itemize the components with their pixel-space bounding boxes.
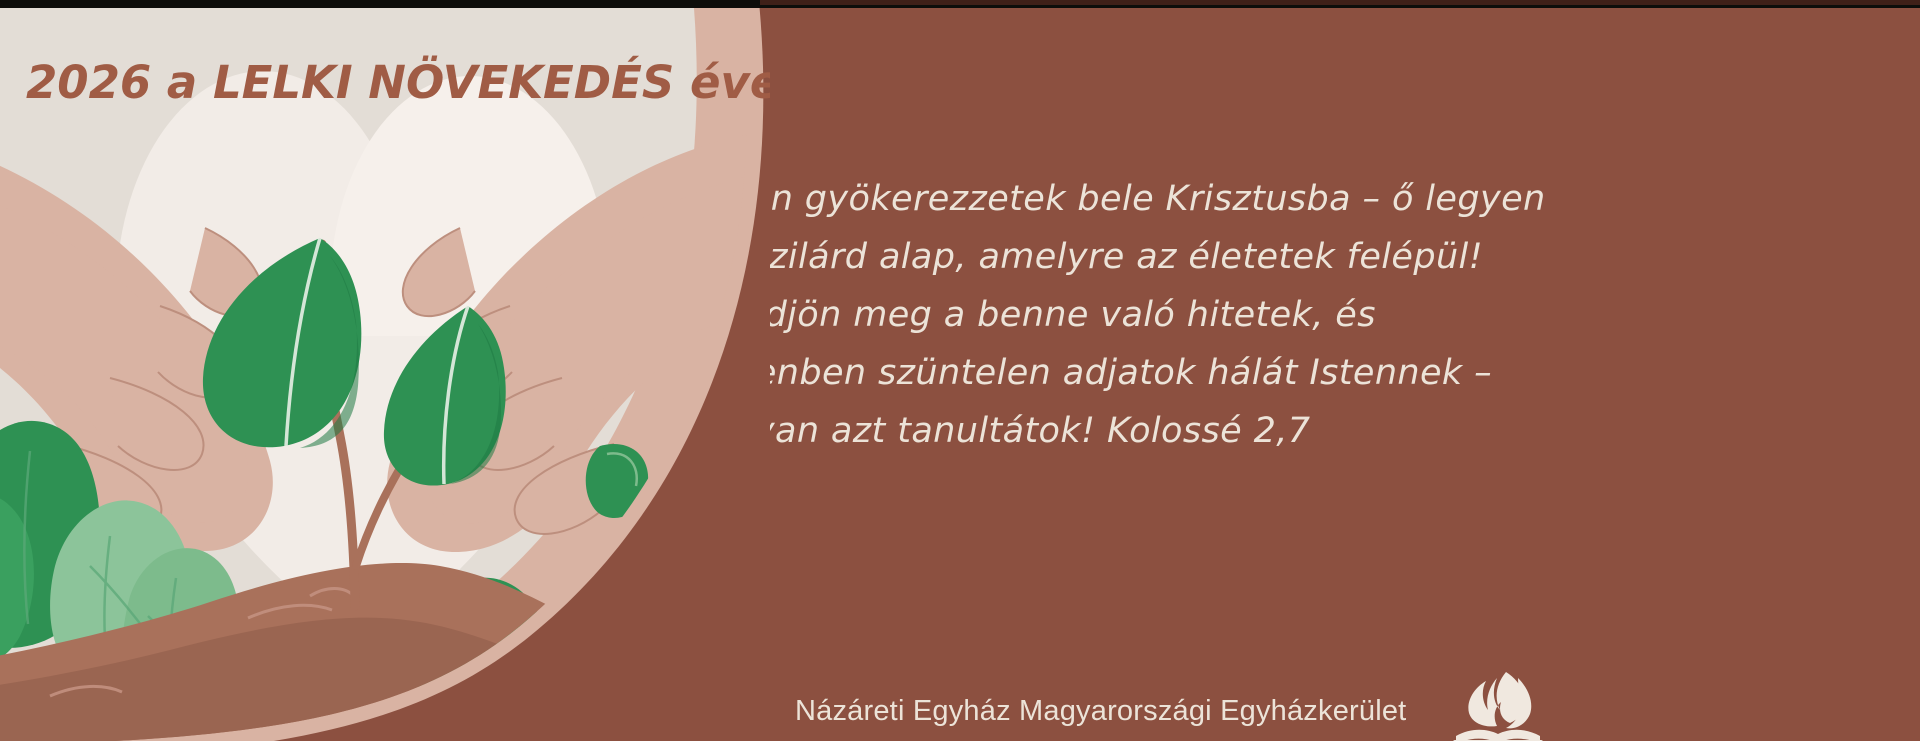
organization-name: Názáreti Egyház Magyarországi Egyházkerü… [795, 695, 1406, 728]
quote-line-2: az a szilárd alap, amelyre az életetek f… [665, 228, 1715, 286]
right-content-panel: Mélyen gyökerezzetek bele Krisztusba – ő… [770, 0, 1920, 741]
scripture-quote: Mélyen gyökerezzetek bele Krisztusba – ő… [665, 170, 1715, 460]
top-brown-strip [760, 0, 1920, 5]
illustration-svg: 2026 a LELKI NÖVEKEDÉS éve [0, 6, 770, 741]
artwork-title: 2026 a LELKI NÖVEKEDÉS éve [26, 56, 770, 109]
quote-line-4: mindenben szüntelen adjatok hálát Istenn… [665, 344, 1715, 402]
illustration-hands-seedling: 2026 a LELKI NÖVEKEDÉS éve [0, 6, 770, 741]
quote-line-3: Erősödjön meg a benne való hitetek, és [665, 286, 1715, 344]
banner-root: 2026 a LELKI NÖVEKEDÉS éve Mélyen gyöker… [0, 0, 1920, 741]
quote-line-5: ahogyan azt tanultátok! Kolossé 2,7 [665, 402, 1715, 460]
flame-over-open-book-logo [1450, 668, 1546, 741]
footer: Názáreti Egyház Magyarországi Egyházkerü… [795, 668, 1546, 741]
quote-line-1: Mélyen gyökerezzetek bele Krisztusba – ő… [665, 170, 1715, 228]
